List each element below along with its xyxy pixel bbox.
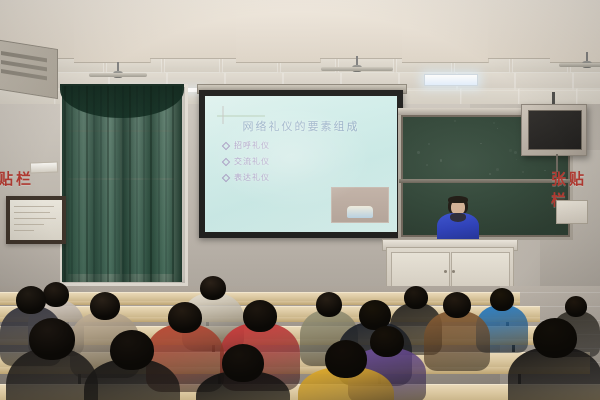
curtain-fold	[100, 86, 102, 282]
chalk-mark	[514, 151, 517, 154]
slide-bullet: 表达礼仪	[223, 172, 270, 183]
curtain-fold	[122, 86, 124, 282]
ceiling-soffit-panel	[320, 0, 403, 59]
student-head	[565, 296, 587, 317]
chalk-mark	[417, 151, 420, 154]
curtain-fold	[172, 86, 174, 282]
chalk-mark	[426, 164, 428, 166]
curtain-fold	[107, 86, 109, 282]
student-torso	[424, 311, 490, 371]
ceiling-soffit-panel	[236, 0, 321, 63]
student-head	[110, 330, 154, 370]
student-head	[443, 292, 471, 318]
slide-bullet-label: 交流礼仪	[234, 157, 270, 166]
curtain-fold	[78, 86, 80, 282]
slide-bullet-label: 表达礼仪	[234, 173, 270, 182]
slide-image-thumbnail	[331, 187, 389, 223]
classroom-photo: 网络礼仪的要素组成 招呼礼仪交流礼仪表达礼仪 贴栏 张贴栏	[0, 0, 600, 400]
student-head	[222, 344, 264, 382]
student-black-front-mid	[196, 344, 290, 400]
curtain-fold	[64, 86, 66, 282]
chalk-mark	[497, 128, 498, 129]
chalk-mark	[489, 173, 491, 175]
instructor-collar	[450, 213, 466, 222]
instructor-hair-front	[448, 196, 468, 203]
student-head	[243, 300, 277, 332]
student-head	[29, 318, 75, 360]
slide-bullet-label: 招呼礼仪	[234, 141, 270, 150]
ceiling-soffit-panel	[150, 0, 237, 59]
student-black-front-right	[508, 318, 600, 400]
ceiling-light-panel	[424, 74, 478, 86]
chalk-mark	[516, 159, 517, 160]
curtain-fold	[86, 86, 88, 282]
bullet-marker-icon	[222, 141, 230, 149]
wall-mounted-box	[556, 200, 588, 224]
ceiling-soffit-panel	[74, 0, 151, 63]
chalk-mark	[509, 149, 512, 152]
curtain-fold	[158, 86, 160, 282]
slide-bullet-list: 招呼礼仪交流礼仪表达礼仪	[223, 140, 270, 188]
curtain-fold	[165, 86, 167, 282]
student-head	[200, 276, 226, 300]
slide-bullet: 交流礼仪	[223, 156, 270, 167]
curtain-fold	[136, 86, 138, 282]
student-black-front-left	[84, 330, 180, 400]
chalkboard-chalk-rail	[399, 179, 572, 183]
student-brown-puffer	[424, 292, 490, 378]
ceiling-soffit-panel	[402, 0, 489, 63]
slide-bullet: 招呼礼仪	[223, 140, 270, 151]
tv-screen	[528, 110, 582, 150]
chalk-mark	[493, 122, 495, 124]
curtain-fold	[143, 86, 145, 282]
ceiling-fan	[556, 52, 600, 70]
slide-annotation-mark	[215, 104, 269, 126]
wall-notice-plate	[30, 162, 58, 174]
ceiling-fan	[86, 62, 150, 80]
curtain-fold	[114, 86, 116, 282]
student-head	[16, 286, 46, 314]
wall-sign-left: 贴栏	[0, 168, 34, 189]
ceiling-fan	[318, 56, 396, 74]
chalk-mark	[496, 168, 499, 171]
curtain-fold	[71, 86, 73, 282]
student-head	[168, 302, 202, 333]
student-yellow-vest	[298, 340, 394, 400]
curtain-fold	[150, 86, 152, 282]
student-head	[533, 318, 577, 358]
student-head	[325, 340, 367, 378]
instructor	[435, 196, 481, 244]
student-head	[90, 292, 120, 320]
framed-notice-board	[6, 196, 66, 244]
student-head	[490, 288, 514, 311]
curtain-fold	[93, 86, 95, 282]
curtain-fold	[129, 86, 131, 282]
ceiling-ac-unit	[0, 39, 58, 99]
bullet-marker-icon	[222, 173, 230, 181]
ceiling-soffit-panel	[488, 0, 551, 59]
bullet-marker-icon	[222, 157, 230, 165]
chalk-mark	[440, 159, 442, 161]
chalk-mark	[428, 143, 430, 145]
